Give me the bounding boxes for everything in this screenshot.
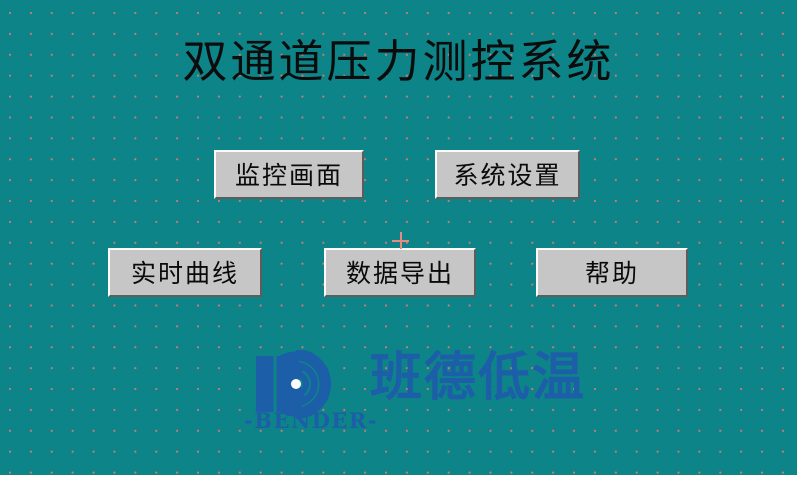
button-data-export[interactable]: 数据导出 [324, 248, 476, 297]
button-system-settings-label: 系统设置 [453, 156, 561, 194]
button-monitor-screen[interactable]: 监控画面 [214, 150, 364, 199]
company-name-cn: 班德低温 [370, 352, 586, 404]
button-data-export-label: 数据导出 [346, 254, 454, 292]
bender-logo-icon: -BENDER- [244, 350, 356, 442]
button-help[interactable]: 帮助 [536, 248, 688, 297]
button-help-label: 帮助 [585, 254, 639, 292]
button-realtime-curve[interactable]: 实时曲线 [108, 248, 262, 297]
crosshair-cursor-icon [392, 232, 409, 249]
page-title: 双通道压力测控系统 [0, 36, 797, 88]
button-system-settings[interactable]: 系统设置 [435, 150, 580, 199]
button-realtime-curve-label: 实时曲线 [131, 254, 239, 292]
company-logo: -BENDER- 班德低温 [244, 350, 586, 442]
button-monitor-screen-label: 监控画面 [235, 156, 343, 194]
hmi-screen: 双通道压力测控系统 监控画面 系统设置 实时曲线 数据导出 帮助 [0, 0, 797, 478]
logo-wordmark: -BENDER- [244, 408, 360, 433]
